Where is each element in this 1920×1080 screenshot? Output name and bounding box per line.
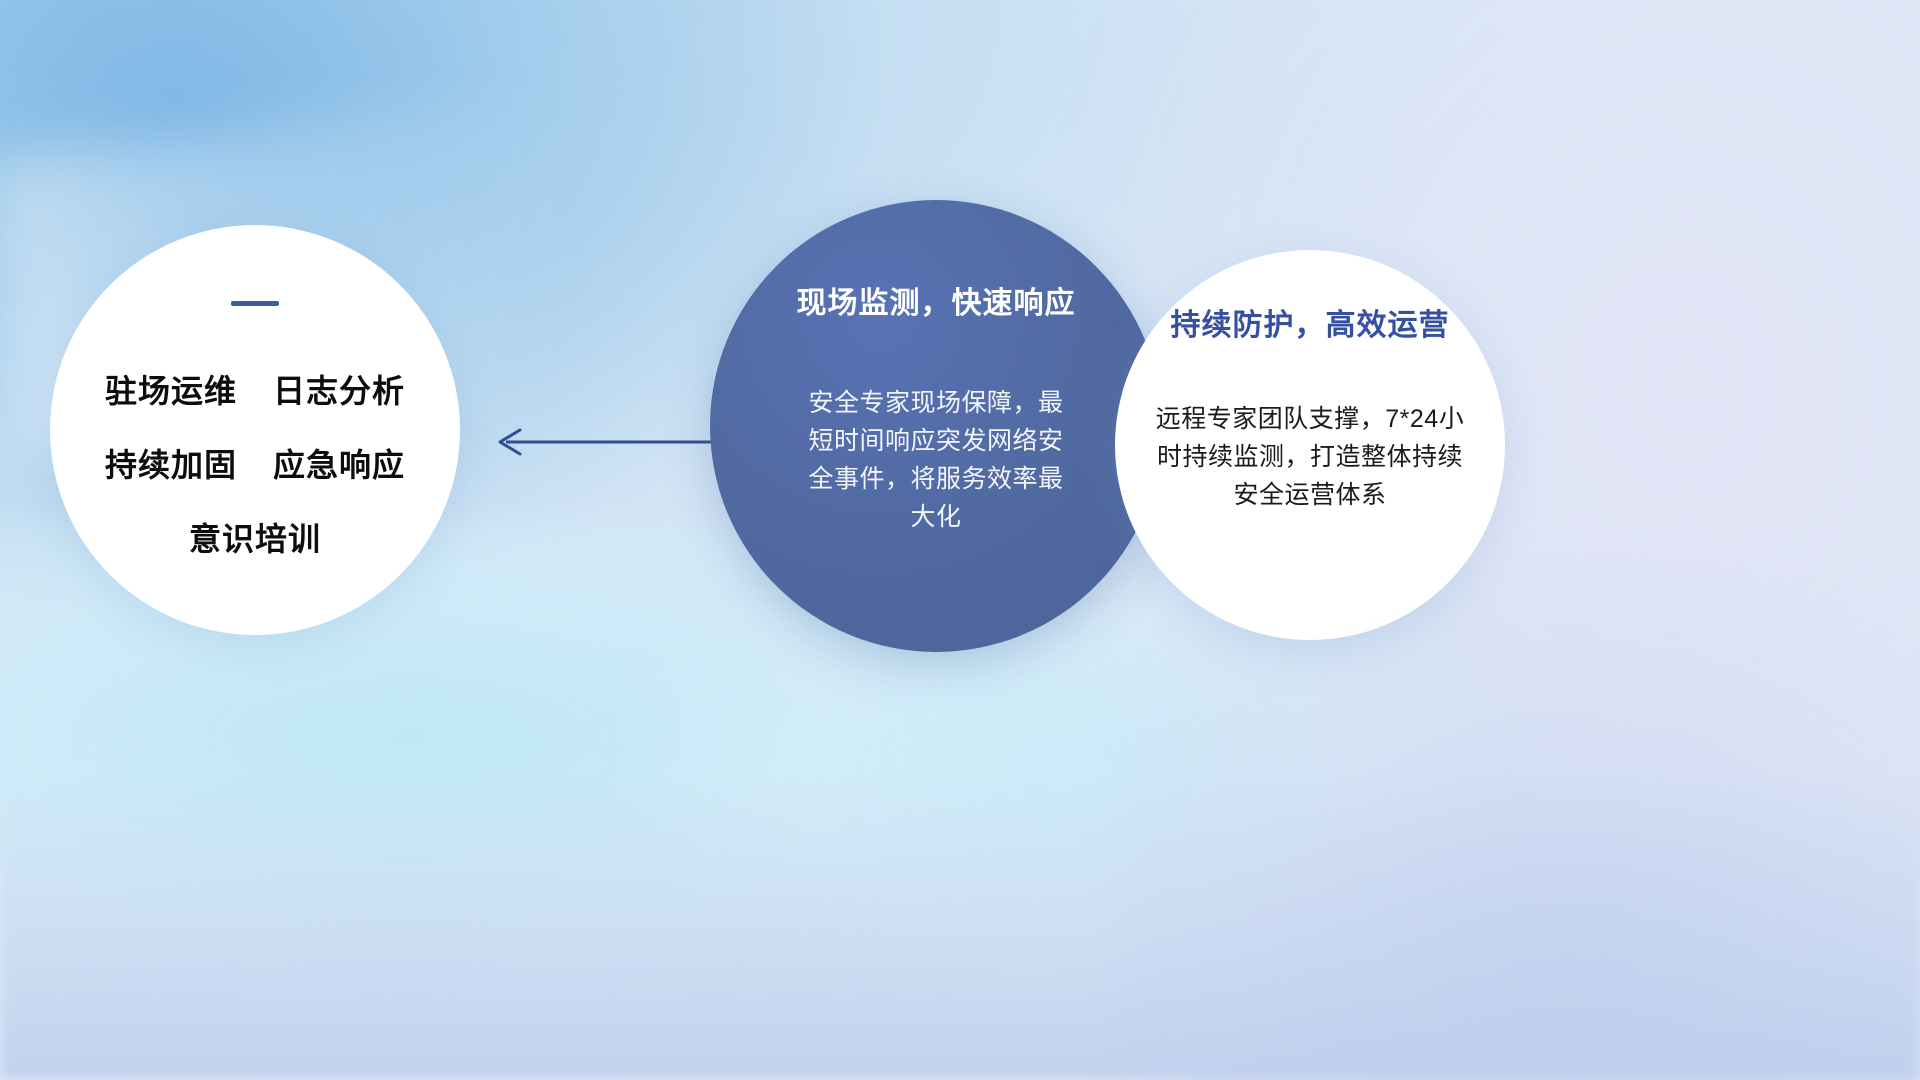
capability-tag-row: 持续加固 应急响应 — [105, 440, 405, 486]
capability-tag[interactable]: 持续加固 — [105, 440, 237, 486]
feature-circle-body: 安全专家现场保障，最短时间响应突发网络安全事件，将服务效率最大化 — [801, 384, 1071, 536]
capability-tag-list: 驻场运维 日志分析 持续加固 应急响应 意识培训 — [105, 366, 405, 560]
capability-tag-row: 驻场运维 日志分析 — [105, 366, 405, 412]
feature-circle-title: 现场监测，快速响应 — [797, 278, 1076, 322]
feature-circle-body: 远程专家团队支撑，7*24小时持续监测，打造整体持续安全运营体系 — [1145, 400, 1475, 514]
capability-circle-left: 驻场运维 日志分析 持续加固 应急响应 意识培训 — [50, 225, 460, 635]
flow-arrow-icon — [480, 420, 720, 464]
feature-circle-title: 持续防护，高效运营 — [1171, 300, 1450, 344]
capability-tag[interactable]: 应急响应 — [273, 440, 405, 486]
feature-circle-continuous: 持续防护，高效运营 远程专家团队支撑，7*24小时持续监测，打造整体持续安全运营… — [1115, 250, 1505, 640]
slide-canvas: 驻场运维 日志分析 持续加固 应急响应 意识培训 现场监测，快速响应 安全专家现… — [0, 0, 1920, 1080]
feature-circle-onsite: 现场监测，快速响应 安全专家现场保障，最短时间响应突发网络安全事件，将服务效率最… — [710, 200, 1162, 652]
divider-dash-icon — [231, 301, 279, 306]
background-bottom-fade — [0, 780, 1920, 1080]
capability-tag[interactable]: 驻场运维 — [105, 366, 237, 412]
capability-tag[interactable]: 意识培训 — [189, 514, 321, 560]
capability-tag[interactable]: 日志分析 — [273, 366, 405, 412]
capability-tag-row: 意识培训 — [189, 514, 321, 560]
